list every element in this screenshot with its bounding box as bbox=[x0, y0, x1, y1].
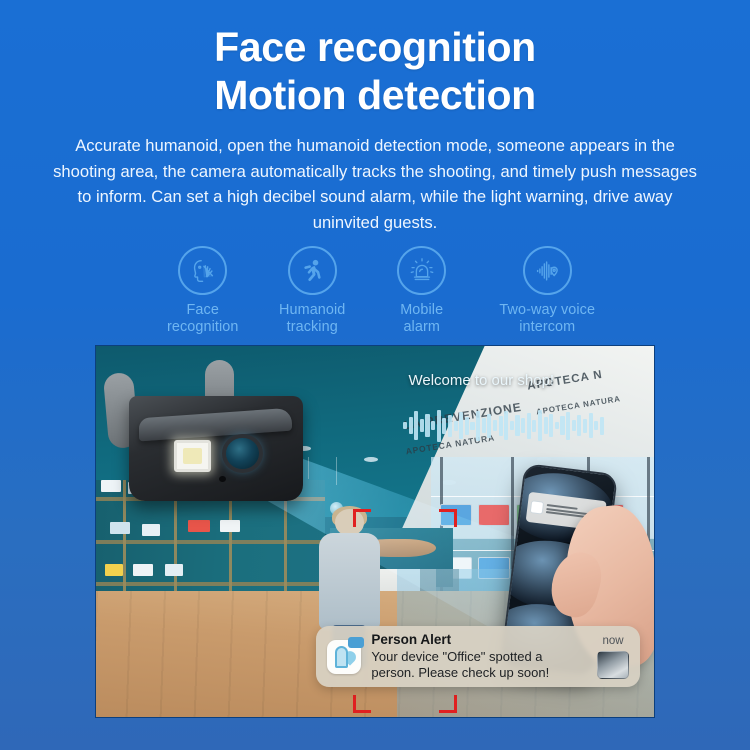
description-text: Accurate humanoid, open the humanoid det… bbox=[48, 133, 702, 236]
shelf-product bbox=[142, 524, 160, 536]
notification-timestamp: now bbox=[602, 635, 623, 647]
notification-meta: now bbox=[597, 635, 629, 679]
running-person-icon bbox=[288, 246, 337, 295]
tracking-bracket-top-left bbox=[353, 509, 371, 527]
page-title: Face recognition Motion detection bbox=[0, 24, 750, 120]
tracking-bracket-bottom-right bbox=[439, 695, 457, 713]
tracking-bracket-bottom-left bbox=[353, 695, 371, 713]
notification-text: Person Alert Your device "Office" spotte… bbox=[371, 631, 587, 682]
feature-label: Facerecognition bbox=[167, 302, 239, 336]
product-scene-photo: LA PREVENZIONE APOTECA NATURA APOTECA N … bbox=[95, 345, 655, 718]
smart-home-app-icon bbox=[327, 640, 361, 674]
pendant-cord bbox=[336, 457, 337, 485]
camera-lens bbox=[226, 438, 259, 469]
voice-intercom-icon bbox=[523, 246, 572, 295]
camera-visor bbox=[139, 408, 292, 442]
camera-spotlight bbox=[174, 440, 211, 471]
notification-body-line-1: Your device "Office" spotted a bbox=[371, 649, 587, 666]
shelf-product bbox=[105, 564, 123, 576]
shelf-product bbox=[110, 522, 131, 534]
feature-label: Mobilealarm bbox=[400, 302, 443, 336]
camera-microphone bbox=[219, 476, 226, 482]
feature-list: Facerecognition Humanoidtracking bbox=[148, 246, 618, 336]
notification-body-line-2: person. Please check up soon! bbox=[371, 665, 587, 682]
shelf-product bbox=[133, 564, 154, 576]
audio-waveform-icon bbox=[403, 409, 604, 442]
feature-mobile-alarm[interactable]: Mobilealarm bbox=[367, 246, 476, 336]
promo-banner: Face recognition Motion detection Accura… bbox=[0, 0, 750, 750]
speech-text: Welcome to our shop! bbox=[408, 372, 554, 389]
shelf-product bbox=[165, 564, 183, 576]
headline-line-1: Face recognition bbox=[0, 24, 750, 72]
notification-title: Person Alert bbox=[371, 631, 587, 649]
headline-line-2: Motion detection bbox=[0, 72, 750, 120]
shelf-product bbox=[220, 520, 241, 532]
phone-app-icon bbox=[530, 501, 544, 515]
siren-alarm-icon bbox=[397, 246, 446, 295]
security-camera-device bbox=[102, 357, 331, 520]
tracking-bracket-top-right bbox=[439, 509, 457, 527]
camera-snapshot-thumbnail[interactable] bbox=[597, 651, 629, 679]
feature-face-recognition[interactable]: Facerecognition bbox=[148, 246, 257, 336]
shelf-product bbox=[188, 520, 211, 532]
feature-two-way-voice-intercom[interactable]: Two-way voiceintercom bbox=[476, 246, 618, 336]
feature-humanoid-tracking[interactable]: Humanoidtracking bbox=[257, 246, 366, 336]
push-notification-card[interactable]: Person Alert Your device "Office" spotte… bbox=[316, 626, 640, 687]
camera-body bbox=[129, 396, 303, 500]
face-recognition-icon bbox=[178, 246, 227, 295]
feature-label: Two-way voiceintercom bbox=[499, 302, 595, 336]
feature-label: Humanoidtracking bbox=[279, 302, 345, 336]
